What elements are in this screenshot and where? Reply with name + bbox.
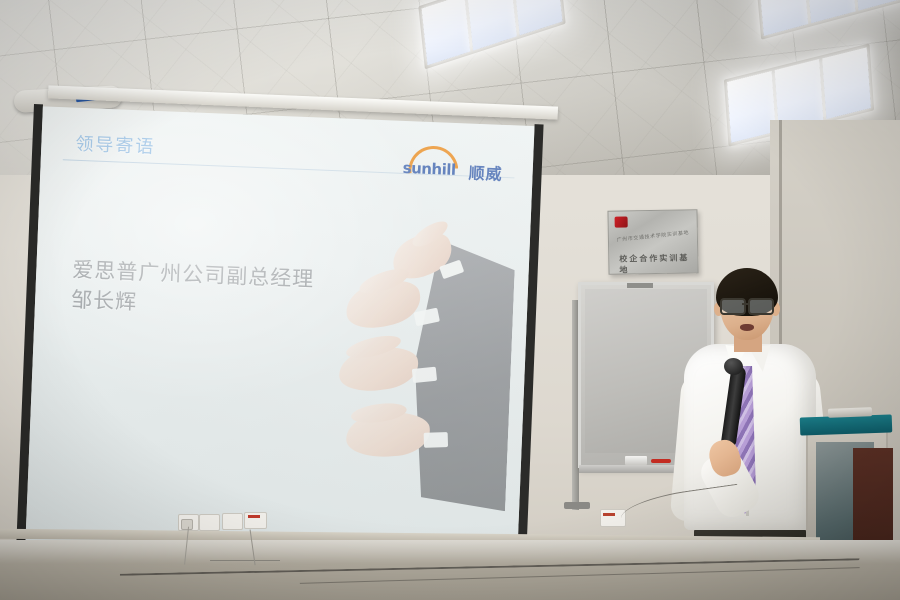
slide-body-text: 爱思普广州公司副总经理 邹长辉 (71, 256, 315, 325)
switch-indicator-icon (603, 513, 615, 516)
presenter-mouth (740, 324, 754, 331)
light-tube (822, 47, 871, 119)
light-tube (421, 0, 470, 65)
wall-socket (222, 513, 243, 530)
glasses-lens-left (720, 298, 746, 315)
applauding-hands-image (303, 213, 525, 521)
plaque-logo-icon (615, 216, 628, 227)
glasses-lens-right (748, 298, 774, 315)
plaque-arc-text: 广州市交通技术学院实训基地 (616, 230, 683, 253)
shirt-cuff (412, 367, 437, 383)
screen-body: 领导寄语 sunhill 顺威 爱思普广州公司副总经理 邹长辉 (15, 104, 544, 600)
slide-title: 领导寄语 (75, 130, 156, 159)
cabinet-top-items (800, 414, 893, 435)
cabinet-top-plate (828, 407, 872, 418)
logo-chinese-name: 顺威 (468, 160, 503, 185)
logo-wordmark: sunhill (402, 159, 456, 179)
whiteboard-foot (564, 502, 590, 509)
shirt-cuff (424, 432, 448, 448)
light-tube (727, 71, 776, 143)
conference-room-photo: 领导寄语 sunhill 顺威 爱思普广州公司副总经理 邹长辉 (0, 0, 900, 600)
whiteboard-clip (627, 283, 653, 288)
projected-slide: 领导寄语 sunhill 顺威 爱思普广州公司副总经理 邹长辉 (24, 106, 534, 591)
glasses-bridge (742, 303, 750, 305)
eraser-icon (625, 456, 647, 465)
projection-screen: 领导寄语 sunhill 顺威 爱思普广州公司副总经理 邹长辉 (8, 88, 538, 508)
switch-indicator-icon (248, 515, 260, 518)
company-logo: sunhill 顺威 (400, 145, 513, 183)
